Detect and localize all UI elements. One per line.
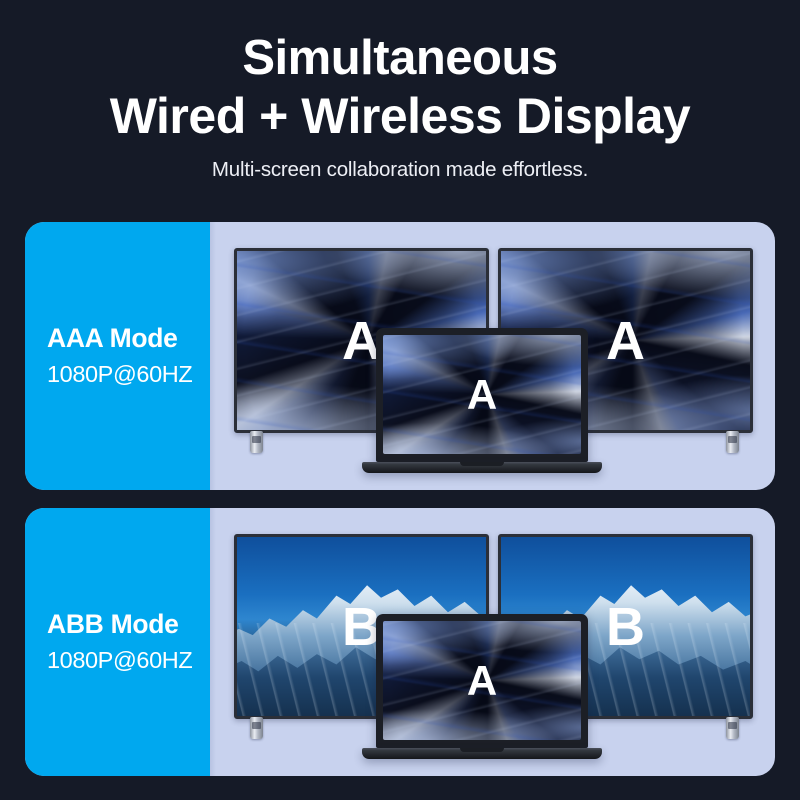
mode-name: AAA Mode bbox=[47, 324, 210, 353]
mode-resolution: 1080P@60HZ bbox=[47, 648, 210, 674]
monitor-right-stand-foot bbox=[726, 717, 739, 739]
laptop-letter: A bbox=[383, 660, 581, 702]
laptop-notch-icon bbox=[460, 748, 504, 752]
laptop: A bbox=[376, 328, 588, 473]
page-title-line-2: Wired + Wireless Display bbox=[20, 87, 780, 145]
header: Simultaneous Wired + Wireless Display Mu… bbox=[0, 0, 800, 182]
page-title-line-1: Simultaneous bbox=[20, 30, 780, 87]
monitor-left-stand-foot bbox=[250, 717, 263, 739]
panel-divider-shadow bbox=[210, 508, 216, 776]
mode-card-aaa[interactable]: AAA Mode 1080P@60HZ A A bbox=[25, 222, 775, 490]
mode-resolution: 1080P@60HZ bbox=[47, 362, 210, 388]
device-stage-abb: B B A bbox=[210, 508, 775, 776]
monitor-right-stand-foot bbox=[726, 431, 739, 453]
laptop-screen: A bbox=[383, 621, 581, 740]
laptop: A bbox=[376, 614, 588, 759]
laptop-notch-icon bbox=[460, 462, 504, 466]
laptop-letter: A bbox=[383, 374, 581, 416]
page-subtitle: Multi-screen collaboration made effortle… bbox=[0, 158, 800, 182]
mode-cards: AAA Mode 1080P@60HZ A A bbox=[25, 222, 775, 776]
mode-label-panel-abb: ABB Mode 1080P@60HZ bbox=[25, 508, 210, 776]
device-stage-aaa: A A A bbox=[210, 222, 775, 490]
laptop-lid: A bbox=[376, 614, 588, 748]
monitor-left-stand-foot bbox=[250, 431, 263, 453]
laptop-base bbox=[362, 748, 602, 759]
laptop-base bbox=[362, 462, 602, 473]
page-title: Simultaneous Wired + Wireless Display bbox=[0, 30, 800, 145]
mode-name: ABB Mode bbox=[47, 610, 210, 639]
laptop-screen: A bbox=[383, 335, 581, 454]
panel-divider-shadow bbox=[210, 222, 216, 490]
mode-card-abb[interactable]: ABB Mode 1080P@60HZ B bbox=[25, 508, 775, 776]
laptop-lid: A bbox=[376, 328, 588, 462]
mode-label-panel-aaa: AAA Mode 1080P@60HZ bbox=[25, 222, 210, 490]
